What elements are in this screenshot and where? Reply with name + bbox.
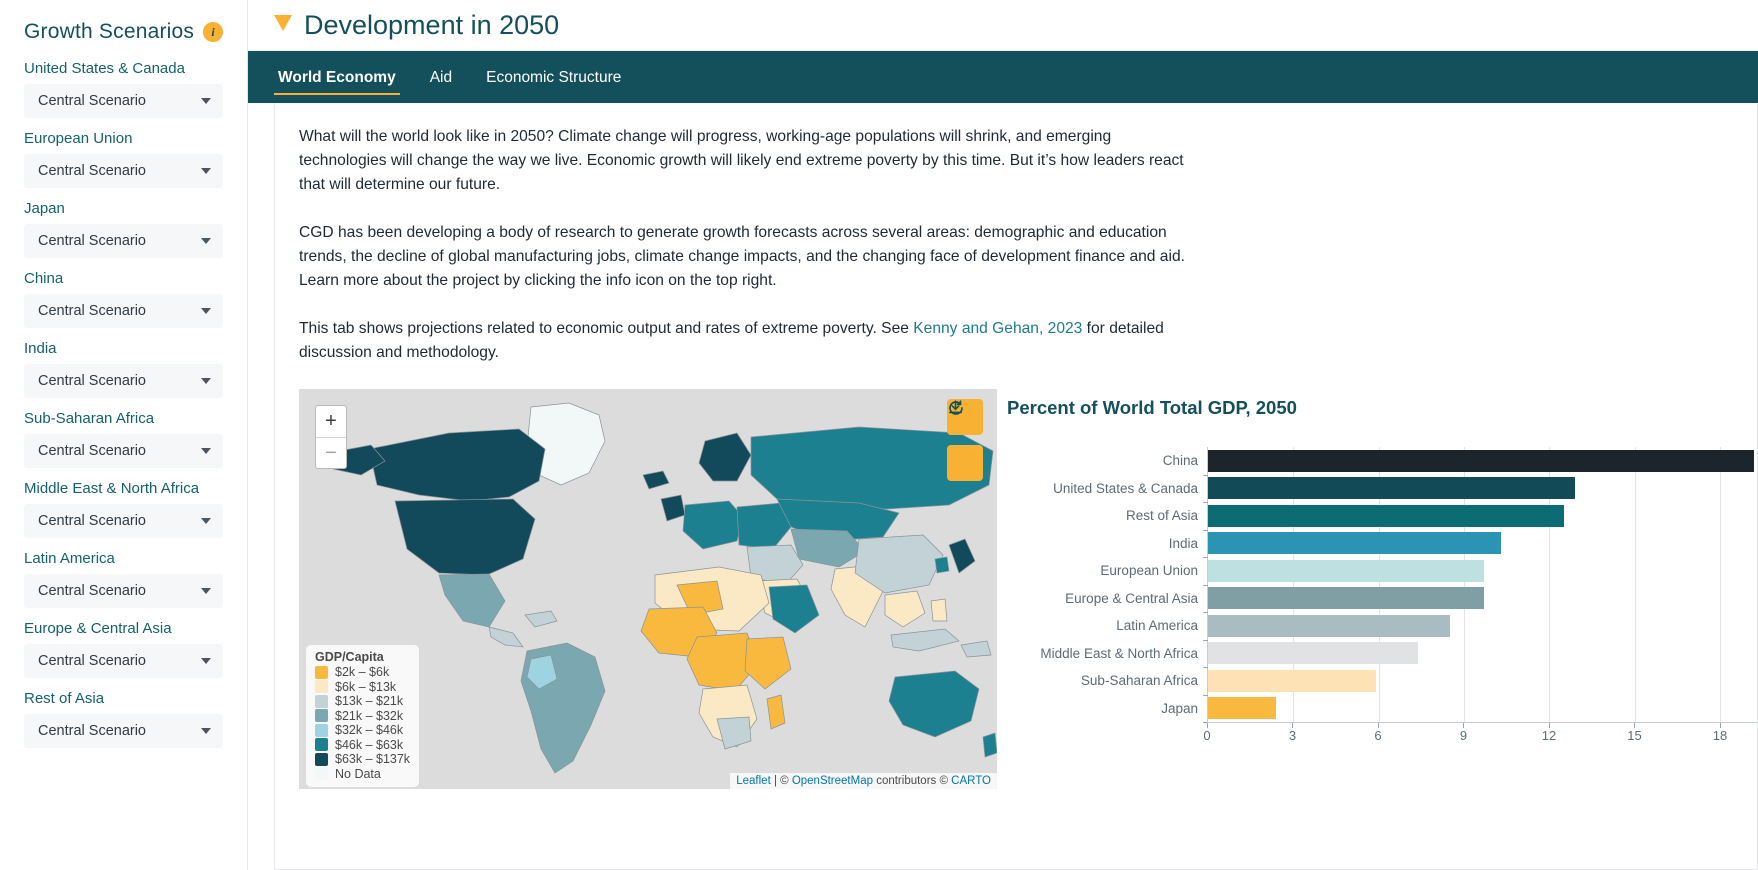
chart-bar-track-2 bbox=[1208, 502, 1757, 530]
chart-bar-track-5 bbox=[1208, 585, 1757, 613]
chevron-down-icon bbox=[201, 168, 211, 174]
leaflet-link[interactable]: Leaflet bbox=[736, 775, 771, 787]
zoom-in-button[interactable]: + bbox=[316, 406, 346, 437]
scenario-select-8[interactable]: Central Scenario bbox=[24, 644, 223, 678]
scenario-value-1: Central Scenario bbox=[38, 163, 146, 179]
chart-title: Percent of World Total GDP, 2050 bbox=[1007, 397, 1757, 419]
chart-x-tick-mark-1 bbox=[1292, 723, 1293, 728]
legend-label-6: $63k – $137k bbox=[335, 752, 410, 767]
tab-world-economy[interactable]: World Economy bbox=[274, 55, 400, 99]
chart-label-3: India bbox=[1007, 530, 1207, 558]
scenario-field-4: IndiaCentral Scenario bbox=[24, 340, 223, 398]
legend-swatch-5 bbox=[315, 738, 328, 751]
chart-bar-track-6 bbox=[1208, 612, 1757, 640]
legend-item-7: No Data bbox=[315, 767, 410, 782]
legend-swatch-0 bbox=[315, 666, 328, 679]
legend-item-1: $6k – $13k bbox=[315, 680, 410, 695]
scenario-select-3[interactable]: Central Scenario bbox=[24, 294, 223, 328]
page-title: Development in 2050 bbox=[304, 10, 559, 41]
scenario-field-6: Middle East & North AfricaCentral Scenar… bbox=[24, 480, 223, 538]
scenario-select-6[interactable]: Central Scenario bbox=[24, 504, 223, 538]
chart-bar-4[interactable] bbox=[1208, 560, 1484, 582]
chart-bar-track-1 bbox=[1208, 475, 1757, 503]
chevron-down-icon bbox=[201, 588, 211, 594]
scenario-select-9[interactable]: Central Scenario bbox=[24, 714, 223, 748]
legend-swatch-1 bbox=[315, 680, 328, 693]
scenario-field-1: European UnionCentral Scenario bbox=[24, 130, 223, 188]
tab-aid[interactable]: Aid bbox=[426, 55, 456, 99]
map-legend: GDP/Capita $2k – $6k$6k – $13k$13k – $21… bbox=[306, 645, 419, 787]
kenny-gehan-link[interactable]: Kenny and Gehan, 2023 bbox=[913, 320, 1082, 337]
scenario-select-1[interactable]: Central Scenario bbox=[24, 154, 223, 188]
chart-x-tick-mark-0 bbox=[1207, 723, 1208, 728]
chart-label-1: United States & Canada bbox=[1007, 475, 1207, 503]
chart-bar-track-7 bbox=[1208, 640, 1757, 668]
scenario-value-9: Central Scenario bbox=[38, 723, 146, 739]
chart-bar-track-9 bbox=[1208, 695, 1757, 723]
sidebar-header: Growth Scenarios i bbox=[24, 0, 223, 60]
legend-title: GDP/Capita bbox=[315, 650, 410, 664]
chart-x-axis: 0369121518 bbox=[1207, 722, 1757, 748]
funnel-icon bbox=[274, 15, 292, 31]
scenario-value-2: Central Scenario bbox=[38, 233, 146, 249]
legend-swatch-2 bbox=[315, 695, 328, 708]
chart-category-labels: ChinaUnited States & CanadaRest of AsiaI… bbox=[1007, 447, 1207, 722]
info-icon[interactable]: i bbox=[203, 22, 223, 42]
chart-bar-8[interactable] bbox=[1208, 670, 1376, 692]
reset-icon[interactable] bbox=[947, 445, 983, 481]
chart-x-tick-label-2: 6 bbox=[1374, 728, 1381, 743]
scenario-select-5[interactable]: Central Scenario bbox=[24, 434, 223, 468]
scenario-value-6: Central Scenario bbox=[38, 513, 146, 529]
legend-item-list: $2k – $6k$6k – $13k$13k – $21k$21k – $32… bbox=[315, 665, 410, 781]
scenario-value-3: Central Scenario bbox=[38, 303, 146, 319]
legend-swatch-3 bbox=[315, 709, 328, 722]
chart-bar-track-0 bbox=[1208, 447, 1757, 475]
main-area: Development in 2050 World Economy Aid Ec… bbox=[248, 0, 1758, 870]
legend-swatch-7 bbox=[315, 767, 328, 780]
scenario-select-0[interactable]: Central Scenario bbox=[24, 84, 223, 118]
chart-x-tick-label-5: 15 bbox=[1627, 728, 1641, 743]
legend-item-4: $32k – $46k bbox=[315, 723, 410, 738]
chevron-down-icon bbox=[201, 98, 211, 104]
scenario-value-7: Central Scenario bbox=[38, 583, 146, 599]
legend-label-7: No Data bbox=[335, 767, 381, 782]
chart-bar-5[interactable] bbox=[1208, 587, 1484, 609]
carto-link[interactable]: CARTO bbox=[951, 775, 991, 787]
scenario-label-7: Latin America bbox=[24, 550, 223, 568]
openstreetmap-link[interactable]: OpenStreetMap bbox=[792, 775, 873, 787]
scenario-label-4: India bbox=[24, 340, 223, 358]
content-panel: What will the world look like in 2050? C… bbox=[274, 103, 1758, 870]
tab-content: What will the world look like in 2050? C… bbox=[248, 103, 1758, 870]
scenario-select-7[interactable]: Central Scenario bbox=[24, 574, 223, 608]
scenario-field-list: United States & CanadaCentral ScenarioEu… bbox=[24, 60, 223, 748]
legend-item-6: $63k – $137k bbox=[315, 752, 410, 767]
chart-label-5: Europe & Central Asia bbox=[1007, 585, 1207, 613]
chart-x-tick-mark-4 bbox=[1549, 723, 1550, 728]
chevron-down-icon bbox=[201, 658, 211, 664]
chart-label-0: China bbox=[1007, 447, 1207, 475]
map-attribution: Leaflet | © OpenStreetMap contributors ©… bbox=[730, 773, 997, 789]
scenario-field-5: Sub-Saharan AfricaCentral Scenario bbox=[24, 410, 223, 468]
zoom-out-button[interactable]: − bbox=[316, 437, 346, 468]
scenario-value-4: Central Scenario bbox=[38, 373, 146, 389]
legend-swatch-4 bbox=[315, 724, 328, 737]
scenario-field-9: Rest of AsiaCentral Scenario bbox=[24, 690, 223, 748]
scenario-label-8: Europe & Central Asia bbox=[24, 620, 223, 638]
scenario-field-0: United States & CanadaCentral Scenario bbox=[24, 60, 223, 118]
chart-x-tick-mark-6 bbox=[1720, 723, 1721, 728]
scenario-select-4[interactable]: Central Scenario bbox=[24, 364, 223, 398]
scenario-value-8: Central Scenario bbox=[38, 653, 146, 669]
paragraph-1: What will the world look like in 2050? C… bbox=[299, 125, 1203, 197]
scenario-field-8: Europe & Central AsiaCentral Scenario bbox=[24, 620, 223, 678]
chart-x-tick-label-1: 3 bbox=[1289, 728, 1296, 743]
chart-x-tick-label-6: 18 bbox=[1713, 728, 1727, 743]
chart-label-4: European Union bbox=[1007, 557, 1207, 585]
chart-bar-2[interactable] bbox=[1208, 505, 1564, 527]
scenario-value-0: Central Scenario bbox=[38, 93, 146, 109]
chart-bars bbox=[1208, 447, 1757, 722]
scenario-select-2[interactable]: Central Scenario bbox=[24, 224, 223, 258]
chart-bar-9[interactable] bbox=[1208, 697, 1276, 719]
chart-bar-0[interactable] bbox=[1208, 450, 1754, 472]
legend-label-3: $21k – $32k bbox=[335, 709, 403, 724]
paragraph-3-pre: This tab shows projections related to ec… bbox=[299, 320, 913, 337]
scenario-label-3: China bbox=[24, 270, 223, 288]
legend-item-0: $2k – $6k bbox=[315, 665, 410, 680]
legend-label-1: $6k – $13k bbox=[335, 680, 396, 695]
chart-bar-7[interactable] bbox=[1208, 642, 1418, 664]
scenario-label-2: Japan bbox=[24, 200, 223, 218]
gdp-chart-panel: Percent of World Total GDP, 2050 ChinaUn… bbox=[997, 389, 1757, 789]
legend-item-2: $13k – $21k bbox=[315, 694, 410, 709]
legend-item-5: $46k – $63k bbox=[315, 738, 410, 753]
map-action-buttons bbox=[947, 399, 983, 491]
chart-x-tick-mark-5 bbox=[1634, 723, 1635, 728]
paragraph-3: This tab shows projections related to ec… bbox=[299, 317, 1203, 365]
chart-x-tick-mark-3 bbox=[1463, 723, 1464, 728]
chart-bar-track-3 bbox=[1208, 530, 1757, 558]
chart-x-tick-label-4: 12 bbox=[1542, 728, 1556, 743]
intro-text: What will the world look like in 2050? C… bbox=[275, 125, 1227, 365]
scenario-field-3: ChinaCentral Scenario bbox=[24, 270, 223, 328]
tab-economic-structure[interactable]: Economic Structure bbox=[482, 55, 625, 99]
scenario-label-9: Rest of Asia bbox=[24, 690, 223, 708]
attr-mid: contributors © bbox=[873, 775, 951, 787]
chevron-down-icon bbox=[201, 728, 211, 734]
tab-bar: World Economy Aid Economic Structure bbox=[248, 51, 1758, 103]
chevron-down-icon bbox=[201, 308, 211, 314]
chart-label-7: Middle East & North Africa bbox=[1007, 640, 1207, 668]
chart-x-tick-label-0: 0 bbox=[1203, 728, 1210, 743]
chart-bar-track-4 bbox=[1208, 557, 1757, 585]
chart-bar-1[interactable] bbox=[1208, 477, 1575, 499]
sidebar: Growth Scenarios i United States & Canad… bbox=[0, 0, 248, 870]
scenario-value-5: Central Scenario bbox=[38, 443, 146, 459]
attr-sep-1: | © bbox=[771, 775, 792, 787]
gdp-bar-chart: ChinaUnited States & CanadaRest of AsiaI… bbox=[1007, 447, 1757, 722]
chart-x-tick-label-3: 9 bbox=[1460, 728, 1467, 743]
paragraph-2: CGD has been developing a body of resear… bbox=[299, 221, 1203, 293]
map-zoom-control: + − bbox=[315, 405, 347, 469]
chart-bar-6[interactable] bbox=[1208, 615, 1450, 637]
scenario-label-0: United States & Canada bbox=[24, 60, 223, 78]
app-root: Growth Scenarios i United States & Canad… bbox=[0, 0, 1758, 870]
legend-label-5: $46k – $63k bbox=[335, 738, 403, 753]
scenario-label-1: European Union bbox=[24, 130, 223, 148]
chevron-down-icon bbox=[201, 238, 211, 244]
legend-label-4: $32k – $46k bbox=[335, 723, 403, 738]
chart-label-2: Rest of Asia bbox=[1007, 502, 1207, 530]
chart-bar-track-8 bbox=[1208, 667, 1757, 695]
chevron-down-icon bbox=[201, 518, 211, 524]
legend-swatch-6 bbox=[315, 753, 328, 766]
scenario-label-6: Middle East & North Africa bbox=[24, 480, 223, 498]
scenario-field-2: JapanCentral Scenario bbox=[24, 200, 223, 258]
map-and-chart-row: + − bbox=[275, 389, 1757, 789]
chart-bar-3[interactable] bbox=[1208, 532, 1501, 554]
title-bar: Development in 2050 bbox=[248, 0, 1758, 51]
legend-label-0: $2k – $6k bbox=[335, 665, 389, 680]
sidebar-title: Growth Scenarios bbox=[24, 20, 194, 44]
scenario-field-7: Latin AmericaCentral Scenario bbox=[24, 550, 223, 608]
legend-item-3: $21k – $32k bbox=[315, 709, 410, 724]
chevron-down-icon bbox=[201, 448, 211, 454]
chart-plot-area bbox=[1207, 447, 1757, 722]
chevron-down-icon bbox=[201, 378, 211, 384]
chart-label-8: Sub-Saharan Africa bbox=[1007, 667, 1207, 695]
chart-label-6: Latin America bbox=[1007, 612, 1207, 640]
chart-x-tick-mark-2 bbox=[1378, 723, 1379, 728]
legend-label-2: $13k – $21k bbox=[335, 694, 403, 709]
world-map[interactable]: + − bbox=[299, 389, 997, 789]
chart-label-9: Japan bbox=[1007, 695, 1207, 723]
scenario-label-5: Sub-Saharan Africa bbox=[24, 410, 223, 428]
